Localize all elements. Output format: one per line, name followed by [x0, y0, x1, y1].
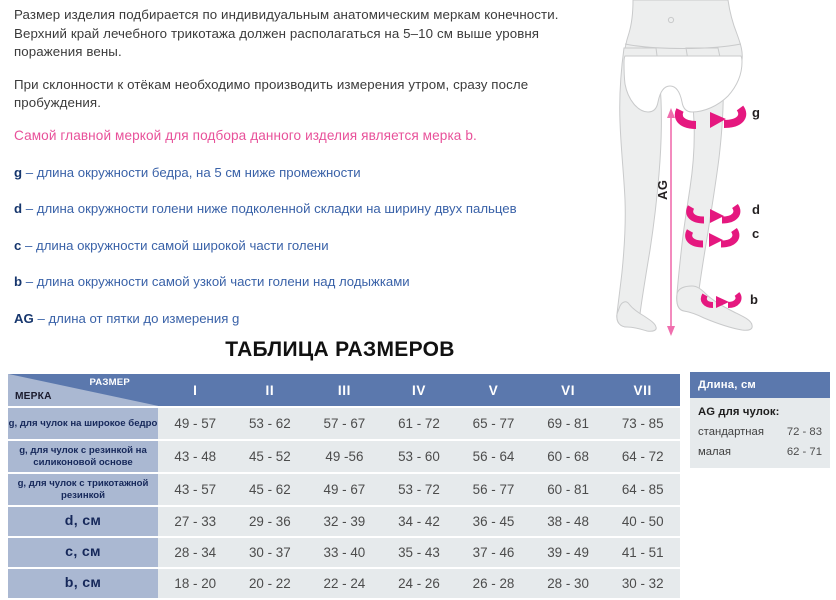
- figure-label-g: g: [752, 105, 760, 120]
- table-cell: 65 - 77: [456, 408, 531, 439]
- definition-dash: –: [26, 274, 33, 289]
- table-cell: 43 - 57: [158, 474, 233, 505]
- table-cell: 64 - 72: [605, 441, 680, 472]
- ag-dimension-arrow: [667, 108, 675, 336]
- definition-key: d: [14, 201, 22, 216]
- table-cell: 20 - 22: [233, 569, 308, 598]
- column-header-ii: II: [233, 374, 308, 406]
- corner-measure-label: МЕРКА: [15, 391, 52, 402]
- table-cell: 34 - 42: [382, 507, 457, 536]
- leg-measurement-figure: g d c b AG: [600, 0, 836, 345]
- definition-dash: –: [26, 165, 33, 180]
- length-panel-body: AG для чулок: стандартная 72 - 83 малая …: [690, 398, 830, 468]
- column-header-vi: VI: [531, 374, 606, 406]
- length-panel: Длина, см AG для чулок: стандартная 72 -…: [690, 372, 830, 468]
- table-cell: 18 - 20: [158, 569, 233, 598]
- table-cell: 49 - 57: [158, 408, 233, 439]
- corner-size-label: РАЗМЕР: [90, 377, 130, 388]
- definition-item-b: b – длина окружности самой узкой части г…: [14, 273, 604, 290]
- definition-text: длина окружности самой широкой части гол…: [36, 238, 329, 253]
- table-row: g, для чулок с трикотажной резинкой 43 -…: [8, 474, 680, 505]
- definition-key: g: [14, 165, 22, 180]
- row-label-g-wide-hip: g, для чулок на широкое бедро: [8, 408, 158, 439]
- table-row: d, см 27 - 33 29 - 36 32 - 39 34 - 42 36…: [8, 507, 680, 536]
- definition-text: длина окружности бедра, на 5 см ниже про…: [37, 165, 361, 180]
- table-cell: 38 - 48: [531, 507, 606, 536]
- corner-header-cell: РАЗМЕР МЕРКА: [8, 374, 158, 406]
- definition-text: длина от пятки до измерения g: [48, 311, 239, 326]
- row-label-g-knit-band: g, для чулок с трикотажной резинкой: [8, 474, 158, 505]
- definition-item-d: d – длина окружности голени ниже подколе…: [14, 200, 604, 217]
- table-cell: 49 - 67: [307, 474, 382, 505]
- length-row-name: малая: [698, 446, 731, 458]
- row-label-g-silicone-band: g, для чулок с резинкой на силиконовой о…: [8, 441, 158, 472]
- arrowhead-d: [710, 209, 724, 223]
- table-cell: 22 - 24: [307, 569, 382, 598]
- table-cell: 24 - 26: [382, 569, 457, 598]
- figure-label-d: d: [752, 202, 760, 217]
- length-row-standard: стандартная 72 - 83: [698, 426, 822, 438]
- definition-text: длина окружности голени ниже подколенной…: [37, 201, 517, 216]
- definition-dash: –: [37, 311, 44, 326]
- definition-key: c: [14, 238, 21, 253]
- table-row: b, см 18 - 20 20 - 22 22 - 24 24 - 26 26…: [8, 569, 680, 598]
- table-cell: 64 - 85: [605, 474, 680, 505]
- intro-paragraph-1: Размер изделия подбирается по индивидуал…: [14, 6, 604, 62]
- figure-label-c: c: [752, 226, 759, 241]
- length-row-small: малая 62 - 71: [698, 446, 822, 458]
- table-row: g, для чулок на широкое бедро 49 - 57 53…: [8, 408, 680, 439]
- intro-paragraph-2: При склонности к отёкам необходимо произ…: [14, 76, 604, 113]
- row-label-d: d, см: [8, 507, 158, 536]
- table-cell: 39 - 49: [531, 538, 606, 567]
- table-cell: 60 - 81: [531, 474, 606, 505]
- table-cell: 61 - 72: [382, 408, 457, 439]
- definition-item-g: g – длина окружности бедра, на 5 см ниже…: [14, 164, 604, 181]
- table-cell: 45 - 62: [233, 474, 308, 505]
- table-cell: 69 - 81: [531, 408, 606, 439]
- table-row: c, см 28 - 34 30 - 37 33 - 40 35 - 43 37…: [8, 538, 680, 567]
- table-header-row: РАЗМЕР МЕРКА I II III IV V VI VII: [8, 374, 680, 406]
- briefs-shape: [624, 56, 742, 112]
- table-cell: 32 - 39: [307, 507, 382, 536]
- table-cell: 33 - 40: [307, 538, 382, 567]
- row-label-b: b, см: [8, 569, 158, 598]
- table-cell: 57 - 67: [307, 408, 382, 439]
- table-cell: 56 - 77: [456, 474, 531, 505]
- table-cell: 49 -56: [307, 441, 382, 472]
- table-cell: 60 - 68: [531, 441, 606, 472]
- arrowhead-c: [709, 233, 723, 247]
- table-cell: 30 - 37: [233, 538, 308, 567]
- table-cell: 41 - 51: [605, 538, 680, 567]
- table-cell: 28 - 30: [531, 569, 606, 598]
- table-cell: 35 - 43: [382, 538, 457, 567]
- table-cell: 37 - 46: [456, 538, 531, 567]
- column-header-v: V: [456, 374, 531, 406]
- length-row-value: 62 - 71: [787, 446, 822, 458]
- column-header-iii: III: [307, 374, 382, 406]
- table-cell: 30 - 32: [605, 569, 680, 598]
- measurement-definitions-list: g – длина окружности бедра, на 5 см ниже…: [14, 164, 604, 327]
- length-panel-title: AG для чулок:: [698, 406, 822, 418]
- table-cell: 53 - 72: [382, 474, 457, 505]
- table-cell: 43 - 48: [158, 441, 233, 472]
- table-cell: 53 - 62: [233, 408, 308, 439]
- definition-key: AG: [14, 311, 34, 326]
- page-title: ТАБЛИЦА РАЗМЕРОВ: [0, 338, 680, 362]
- definition-key: b: [14, 274, 22, 289]
- table-cell: 56 - 64: [456, 441, 531, 472]
- table-cell: 28 - 34: [158, 538, 233, 567]
- female-legs-illustration: [600, 0, 836, 345]
- figure-label-b: b: [750, 292, 758, 307]
- length-row-name: стандартная: [698, 426, 764, 438]
- definition-dash: –: [25, 238, 32, 253]
- table-cell: 73 - 85: [605, 408, 680, 439]
- size-table: РАЗМЕР МЕРКА I II III IV V VI VII g, для…: [8, 372, 680, 600]
- table-cell: 27 - 33: [158, 507, 233, 536]
- length-row-value: 72 - 83: [787, 426, 822, 438]
- instructions-column: Размер изделия подбирается по индивидуал…: [14, 6, 604, 346]
- column-header-i: I: [158, 374, 233, 406]
- row-label-c: c, см: [8, 538, 158, 567]
- column-header-vii: VII: [605, 374, 680, 406]
- definition-dash: –: [26, 201, 33, 216]
- table-cell: 40 - 50: [605, 507, 680, 536]
- length-panel-header: Длина, см: [690, 372, 830, 398]
- table-cell: 45 - 52: [233, 441, 308, 472]
- table-cell: 36 - 45: [456, 507, 531, 536]
- column-header-iv: IV: [382, 374, 457, 406]
- definition-item-c: c – длина окружности самой широкой части…: [14, 237, 604, 254]
- highlight-note: Самой главной меркой для подбора данного…: [14, 127, 604, 146]
- table-cell: 53 - 60: [382, 441, 457, 472]
- figure-label-ag: AG: [655, 180, 670, 201]
- size-chart-page: Размер изделия подбирается по индивидуал…: [0, 0, 836, 571]
- table-row: g, для чулок с резинкой на силиконовой о…: [8, 441, 680, 472]
- definition-item-ag: AG – длина от пятки до измерения g: [14, 310, 604, 327]
- table-cell: 26 - 28: [456, 569, 531, 598]
- table-cell: 29 - 36: [233, 507, 308, 536]
- definition-text: длина окружности самой узкой части голен…: [37, 274, 410, 289]
